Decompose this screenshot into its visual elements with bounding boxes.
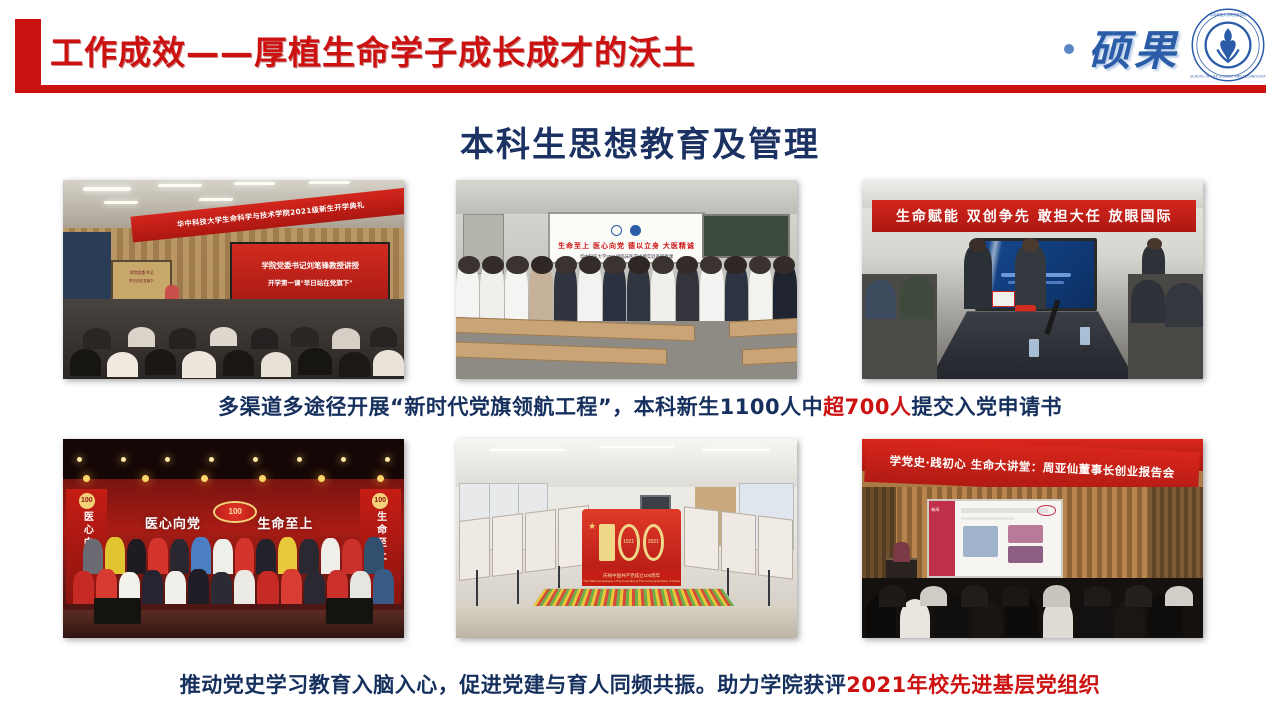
slide-root: 工作成效——厚植生命学子成长成才的沃土 硕果 华中科技大学同济医学院 SCHOO…	[0, 0, 1280, 720]
photo-banner: 生命赋能 双创争先 敢担大任 放眼国际	[872, 200, 1196, 232]
anniversary-sculpture: ★ 1921 2021	[582, 509, 681, 577]
slide-header: 工作成效——厚植生命学子成长成才的沃土 硕果 华中科技大学同济医学院 SCHOO…	[0, 0, 1280, 100]
header-brand-group: 硕果 华中科技大学同济医学院 SCHOOL OF LIFE SCIENCE AN…	[1064, 4, 1266, 86]
header-title: 工作成效——厚植生命学子成长成才的沃土	[50, 26, 696, 74]
caption-middle-highlight: 超700人	[823, 395, 911, 419]
side-screen: 学院党委书记 早日站在党旗下	[111, 260, 172, 304]
caption-bottom-highlight: 2021年校先进基层党组织	[846, 673, 1100, 697]
page-title: 本科生思想教育及管理	[0, 117, 1280, 166]
header-brand-text: 硕果	[1088, 17, 1180, 78]
photo-award-meeting: 生命赋能 双创争先 敢担大任 放眼国际	[862, 180, 1203, 379]
backdrop-text-right: 生命至上	[257, 513, 313, 532]
caption-bottom-pre: 推动党史学习教育入脑入心，促进党建与育人同频共振。助力学院获评	[180, 673, 847, 697]
stage-speaker-left	[94, 598, 142, 624]
svg-text:SCHOOL OF LIFE SCIENCE AND TEC: SCHOOL OF LIFE SCIENCE AND TECHNOLOGY	[1190, 75, 1266, 79]
photo-party-exhibition: ★ 1921 2021 庆祝中国共产党成立100周年 The 100th Ann…	[456, 439, 797, 638]
photo-stage-chorus: 100 医心向党 100 生命至上 医心向党 生命至上 100	[63, 439, 404, 638]
bullet-dot-icon	[1064, 44, 1074, 54]
audience	[63, 299, 404, 379]
svg-text:华中科技大学同济医学院: 华中科技大学同济医学院	[1210, 12, 1247, 17]
photo-opening-ceremony: 华中科技大学生命科学与技术学院2021级新生开学典礼 学院党委书记 早日站在党旗…	[63, 180, 404, 379]
caption-middle: 多渠道多途径开展“新时代党旗领航工程”，本科新生1100人中超700人提交入党申…	[0, 391, 1280, 421]
header-bracket-vertical	[15, 19, 41, 85]
photo-lecture-hall: 学党史·践初心 生命大讲堂：周亚仙董事长创业报告会 新闻	[862, 439, 1203, 638]
lecture-screen: 新闻	[927, 499, 1063, 579]
header-bracket-horizontal	[15, 85, 1266, 93]
photo-class-group: 生命至上 医心向党 德以立身 大医精诚 华中科技大学2021级临床医学中德实验班…	[456, 180, 797, 379]
backdrop-text-left: 医心向党	[145, 513, 201, 532]
anniversary-emblem-icon: 100	[213, 501, 257, 523]
caption-bottom: 推动党史学习教育入脑入心，促进党建与育人同频共振。助力学院获评2021年校先进基…	[0, 669, 1280, 699]
caption-middle-pre: 多渠道多途径开展“新时代党旗领航工程”，本科新生1100人中	[218, 395, 823, 419]
university-emblem-icon: 华中科技大学同济医学院 SCHOOL OF LIFE SCIENCE AND T…	[1190, 7, 1266, 83]
stage-speaker-right	[326, 598, 374, 624]
caption-middle-post: 提交入党申请书	[911, 395, 1062, 419]
stage-screen: 学院党委书记刘笔锋教授讲授 开学第一课“早日站在党旗下”	[230, 242, 390, 306]
